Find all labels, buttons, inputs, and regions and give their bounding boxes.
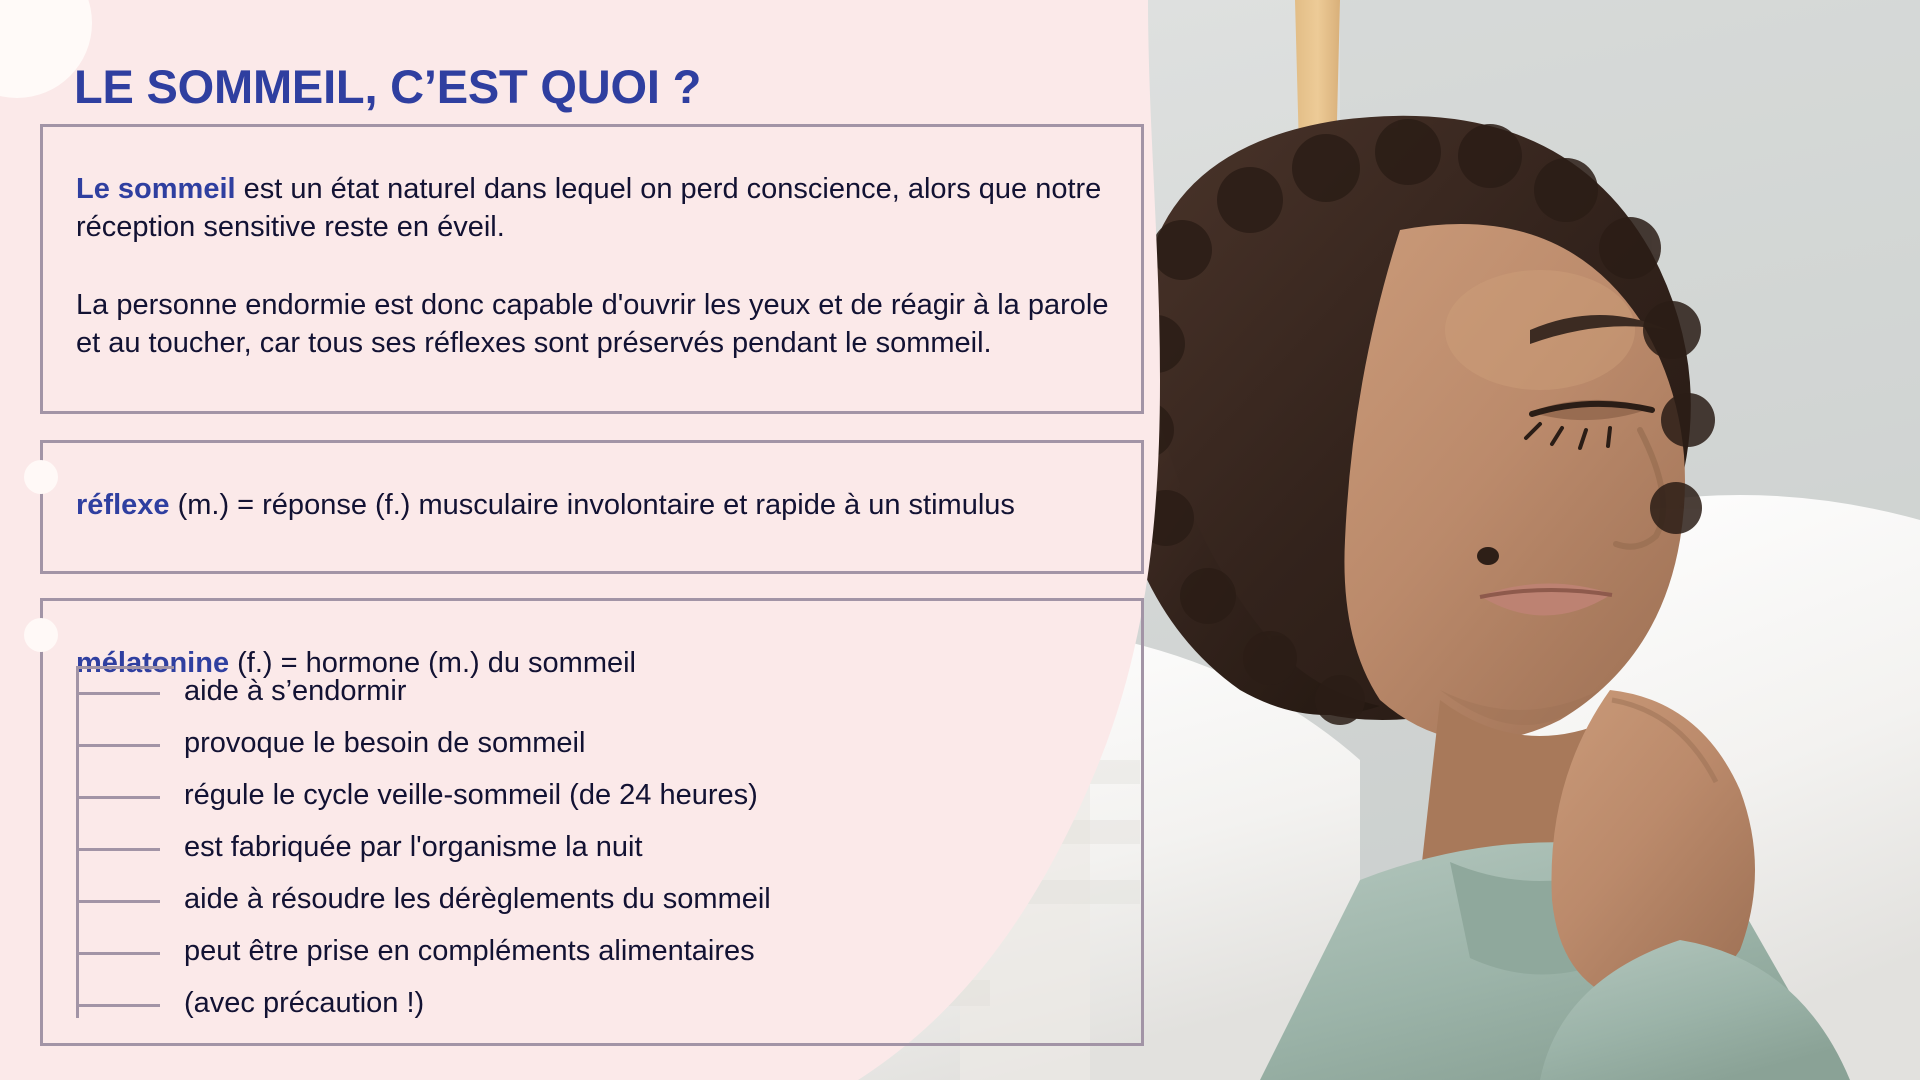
definition-paragraph-2: La personne endormie est donc capable d'… <box>76 287 1136 362</box>
reflexe-term: réflexe <box>76 489 170 521</box>
bullet-dot-icon-reflexe <box>24 460 58 494</box>
reflexe-definition: réflexe (m.) = réponse (f.) musculaire i… <box>76 487 1116 525</box>
list-item: aide à résoudre les dérèglements du somm… <box>76 874 1096 926</box>
list-item: régule le cycle veille-sommeil (de 24 he… <box>76 770 1096 822</box>
list-item: (avec précaution !) <box>76 978 1096 1030</box>
slide-root: LE SOMMEIL, C’EST QUOI ? Le sommeil est … <box>0 0 1920 1080</box>
page-title: LE SOMMEIL, C’EST QUOI ? <box>74 59 701 114</box>
reflexe-definition-text: (m.) = réponse (f.) musculaire involonta… <box>170 489 1015 521</box>
bullet-dot-icon-melatonine <box>24 618 58 652</box>
definition-paragraph-1: Le sommeil est un état naturel dans lequ… <box>76 171 1136 246</box>
content-layer: LE SOMMEIL, C’EST QUOI ? Le sommeil est … <box>0 0 1920 1080</box>
list-item: provoque le besoin de sommeil <box>76 718 1096 770</box>
list-item: aide à s’endormir <box>76 666 1096 718</box>
melatonine-properties-tree: aide à s’endormir provoque le besoin de … <box>76 666 1096 1030</box>
definition-lead-term: Le sommeil <box>76 173 236 205</box>
definition-card <box>40 124 1144 414</box>
list-item: est fabriquée par l'organisme la nuit <box>76 822 1096 874</box>
list-item: peut être prise en compléments alimentai… <box>76 926 1096 978</box>
